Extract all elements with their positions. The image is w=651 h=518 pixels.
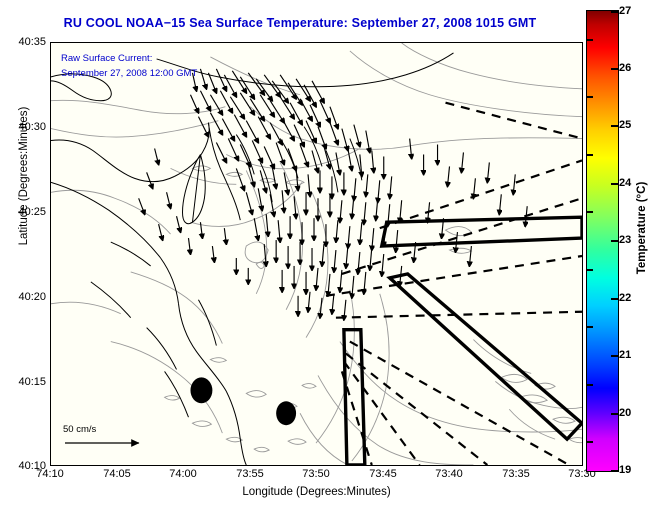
- cbar-tick-22: 22: [619, 292, 631, 304]
- y-axis-title: Latitude (Degrees:Minutes): [18, 56, 30, 296]
- y-tick-5: 40:10: [18, 460, 46, 472]
- station-marker: [190, 377, 212, 403]
- x-axis-title: Longitude (Degrees:Minutes): [50, 486, 583, 498]
- cbar-tick-24: 24: [619, 177, 631, 189]
- cbar-mark-20-5: [586, 384, 593, 386]
- station-marker: [276, 401, 296, 425]
- cbar-tick-19: 19: [619, 464, 631, 476]
- cbar-mark-23-5: [586, 211, 593, 213]
- cbar-tick-26: 26: [619, 62, 631, 74]
- y-tick-4: 40:15: [18, 376, 46, 388]
- cbar-mark-24-5: [586, 154, 593, 156]
- cbar-tick-23: 23: [619, 234, 631, 246]
- cbar-mark-19-5: [586, 441, 593, 443]
- station-markers: [190, 377, 296, 425]
- cbar-tick-21: 21: [619, 349, 631, 361]
- cbar-mark-26-5: [586, 39, 593, 41]
- map-canvas: [51, 43, 582, 465]
- map-plot-area: Raw Surface Current: September 27, 2008 …: [50, 42, 583, 466]
- cbar-mark-26: [611, 68, 618, 70]
- cbar-mark-27: [611, 11, 618, 13]
- x-tick-2: 74:00: [169, 468, 197, 480]
- cbar-mark-25: [611, 125, 618, 127]
- x-tick-3: 73:55: [236, 468, 264, 480]
- cbar-mark-22-5: [586, 269, 593, 271]
- cbar-mark-20: [611, 413, 618, 415]
- coastline: [51, 53, 453, 465]
- figure-title: RU COOL NOAA−15 Sea Surface Temperature:…: [0, 16, 600, 30]
- x-tick-1: 74:05: [103, 468, 131, 480]
- surface-current-vectors: [139, 69, 528, 320]
- cbar-tick-27: 27: [619, 5, 631, 17]
- x-tick-7: 73:35: [502, 468, 530, 480]
- colorbar-title: Temperature (°C): [636, 128, 648, 328]
- scale-bar-arrow-icon: [63, 436, 149, 450]
- cbar-mark-23: [611, 240, 618, 242]
- x-tick-5: 73:45: [369, 468, 397, 480]
- cbar-mark-21-5: [586, 326, 593, 328]
- contour-lines: [51, 43, 582, 465]
- sst-map-figure: RU COOL NOAA−15 Sea Surface Temperature:…: [0, 0, 651, 518]
- velocity-scale-bar: 50 cm/s: [63, 424, 149, 455]
- cbar-mark-25-5: [586, 96, 593, 98]
- x-tick-4: 73:50: [302, 468, 330, 480]
- scale-bar-label: 50 cm/s: [63, 424, 149, 435]
- x-tick-6: 73:40: [435, 468, 463, 480]
- cbar-mark-21: [611, 355, 618, 357]
- cbar-mark-22: [611, 298, 618, 300]
- cbar-tick-25: 25: [619, 119, 631, 131]
- cbar-mark-24: [611, 183, 618, 185]
- y-tick-0: 40:35: [18, 36, 46, 48]
- cbar-tick-20: 20: [619, 407, 631, 419]
- shipping-lane-boxes: [344, 217, 582, 465]
- cbar-mark-19: [611, 470, 618, 472]
